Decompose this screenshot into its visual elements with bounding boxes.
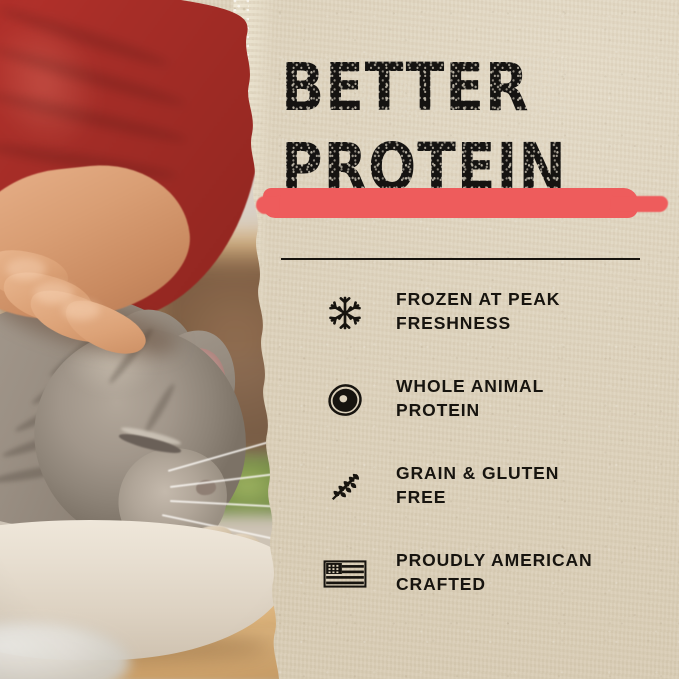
feature-line-2: CRAFTED (396, 572, 656, 596)
feature-text-frozen: FROZEN AT PEAK FRESHNESS (396, 287, 656, 335)
feature-line-1: WHOLE ANIMAL (396, 376, 544, 396)
feature-line-1: GRAIN & GLUTEN (396, 463, 559, 483)
promotional-banner: BETTER PROTEIN (0, 0, 679, 679)
feature-line-1: PROUDLY AMERICAN (396, 550, 593, 570)
feature-list: FROZEN AT PEAK FRESHNESS WHOLE ANIMAL PR… (322, 288, 662, 636)
snowflake-icon (322, 290, 368, 336)
feature-item-frozen: FROZEN AT PEAK FRESHNESS (322, 288, 662, 375)
feature-text-grain-free: GRAIN & GLUTEN FREE (396, 461, 656, 509)
feature-line-1: FROZEN AT PEAK (396, 289, 560, 309)
red-brush-tail (610, 196, 668, 212)
us-flag-icon (322, 551, 368, 597)
feature-text-american: PROUDLY AMERICAN CRAFTED (396, 548, 656, 596)
section-divider (281, 258, 640, 260)
headline-block: BETTER PROTEIN (281, 57, 613, 199)
torn-edge-fuzz (231, 0, 249, 679)
feature-line-2: FRESHNESS (396, 311, 656, 335)
red-brush-stroke (263, 188, 638, 218)
wheat-crossed-out-icon (322, 464, 368, 510)
feature-item-american: PROUDLY AMERICAN CRAFTED (322, 549, 662, 636)
red-brush-tail (256, 196, 280, 214)
feature-item-grain-free: GRAIN & GLUTEN FREE (322, 462, 662, 549)
feature-text-protein: WHOLE ANIMAL PROTEIN (396, 374, 656, 422)
feature-line-2: PROTEIN (396, 398, 656, 422)
steak-icon (322, 377, 368, 423)
headline-line-1: BETTER (281, 57, 567, 119)
feature-item-protein: WHOLE ANIMAL PROTEIN (322, 375, 662, 462)
feature-line-2: FREE (396, 485, 656, 509)
